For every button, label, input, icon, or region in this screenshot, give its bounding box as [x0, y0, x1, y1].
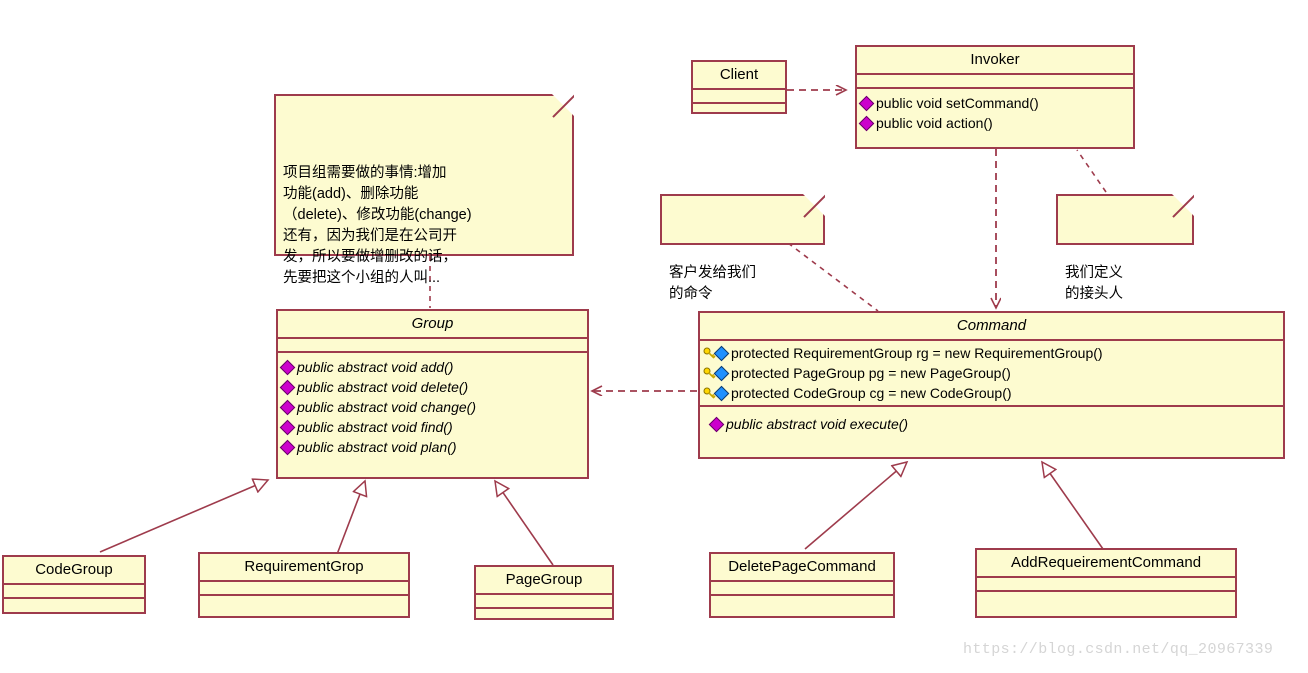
link-addrequeirementcommand-to-command: [1042, 462, 1103, 549]
class-title-requirementgrop: RequirementGrop: [200, 554, 408, 582]
public-method-diamond-icon: [860, 98, 875, 109]
note-command-text: 客户发给我们 的命令: [669, 265, 756, 302]
class-title-codegroup: CodeGroup: [4, 557, 144, 585]
link-note-to-invoker: [1077, 150, 1106, 192]
class-title-command: Command: [700, 313, 1283, 341]
protected-field-icon: [703, 347, 730, 360]
public-method-diamond-icon: [281, 402, 296, 413]
class-title-addrequeirementcommand: AddRequeirementCommand: [977, 550, 1235, 578]
note-invoker-description: 我们定义 的接头人: [1056, 194, 1194, 245]
class-attributes-requirementgrop: [200, 582, 408, 596]
public-method-diamond-icon: [281, 442, 296, 453]
note-fold-corner: [552, 94, 574, 116]
public-method-diamond-icon: [281, 382, 296, 393]
class-box-pagegroup[interactable]: PageGroup: [474, 565, 614, 620]
class-box-addrequeirementcommand[interactable]: AddRequeirementCommand: [975, 548, 1237, 618]
member-row: public abstract void plan(): [281, 437, 584, 457]
note-group-responsibilities: 项目组需要做的事情:增加 功能(add)、删除功能 （delete)、修改功能(…: [274, 94, 574, 256]
class-operations-deletepagecommand: [711, 596, 893, 618]
class-title-group: Group: [278, 311, 587, 339]
link-requirementgrop-to-group: [336, 481, 365, 557]
class-box-command[interactable]: Command protected RequirementGroup rg = …: [698, 311, 1285, 459]
class-operations-group: public abstract void add() public abstra…: [278, 353, 587, 461]
member-row: public void setCommand(): [860, 93, 1130, 113]
note-group-text: 项目组需要做的事情:增加 功能(add)、删除功能 （delete)、修改功能(…: [283, 165, 472, 286]
class-attributes-command: protected RequirementGroup rg = new Requ…: [700, 341, 1283, 407]
public-method-diamond-icon: [710, 419, 725, 430]
class-operations-requirementgrop: [200, 596, 408, 618]
member-row: public abstract void delete(): [281, 377, 584, 397]
protected-field-icon: [703, 387, 730, 400]
class-box-invoker[interactable]: Invoker public void setCommand() public …: [855, 45, 1135, 149]
class-attributes-pagegroup: [476, 595, 612, 609]
class-operations-addrequeirementcommand: [977, 592, 1235, 614]
uml-diagram-canvas: 项目组需要做的事情:增加 功能(add)、删除功能 （delete)、修改功能(…: [0, 0, 1308, 673]
link-deletepagecommand-to-command: [805, 462, 907, 549]
class-operations-client: [693, 104, 785, 118]
class-title-deletepagecommand: DeletePageCommand: [711, 554, 893, 582]
class-box-deletepagecommand[interactable]: DeletePageCommand: [709, 552, 895, 618]
note-fold-corner: [803, 194, 825, 216]
class-operations-invoker: public void setCommand() public void act…: [857, 89, 1133, 137]
class-attributes-deletepagecommand: [711, 582, 893, 596]
note-command-description: 客户发给我们 的命令: [660, 194, 825, 245]
public-method-diamond-icon: [281, 422, 296, 433]
link-codegroup-to-group: [100, 480, 268, 552]
protected-field-icon: [703, 367, 730, 380]
class-title-client: Client: [693, 62, 785, 90]
watermark-text: https://blog.csdn.net/qq_20967339: [963, 641, 1273, 658]
member-row: protected RequirementGroup rg = new Requ…: [703, 343, 1280, 363]
note-fold-corner: [1172, 194, 1194, 216]
class-attributes-client: [693, 90, 785, 104]
member-row: protected CodeGroup cg = new CodeGroup(): [703, 383, 1280, 403]
class-operations-codegroup: [4, 599, 144, 613]
class-attributes-codegroup: [4, 585, 144, 599]
public-method-diamond-icon: [281, 362, 296, 373]
class-title-pagegroup: PageGroup: [476, 567, 612, 595]
member-row: public abstract void change(): [281, 397, 584, 417]
public-method-diamond-icon: [860, 118, 875, 129]
member-row: public void action(): [860, 113, 1130, 133]
class-attributes-addrequeirementcommand: [977, 578, 1235, 592]
class-box-group[interactable]: Group public abstract void add() public …: [276, 309, 589, 479]
class-operations-pagegroup: [476, 609, 612, 623]
member-row: public abstract void execute(): [703, 414, 1280, 434]
link-pagegroup-to-group: [495, 481, 553, 565]
member-row: public abstract void add(): [281, 357, 584, 377]
class-box-client[interactable]: Client: [691, 60, 787, 114]
class-attributes-group: [278, 339, 587, 353]
class-box-codegroup[interactable]: CodeGroup: [2, 555, 146, 614]
member-row: public abstract void find(): [281, 417, 584, 437]
class-box-requirementgrop[interactable]: RequirementGrop: [198, 552, 410, 618]
note-invoker-text: 我们定义 的接头人: [1065, 265, 1123, 302]
class-attributes-invoker: [857, 75, 1133, 89]
class-title-invoker: Invoker: [857, 47, 1133, 75]
class-operations-command: public abstract void execute(): [700, 407, 1283, 438]
member-row: protected PageGroup pg = new PageGroup(): [703, 363, 1280, 383]
link-note-to-command: [788, 243, 878, 311]
